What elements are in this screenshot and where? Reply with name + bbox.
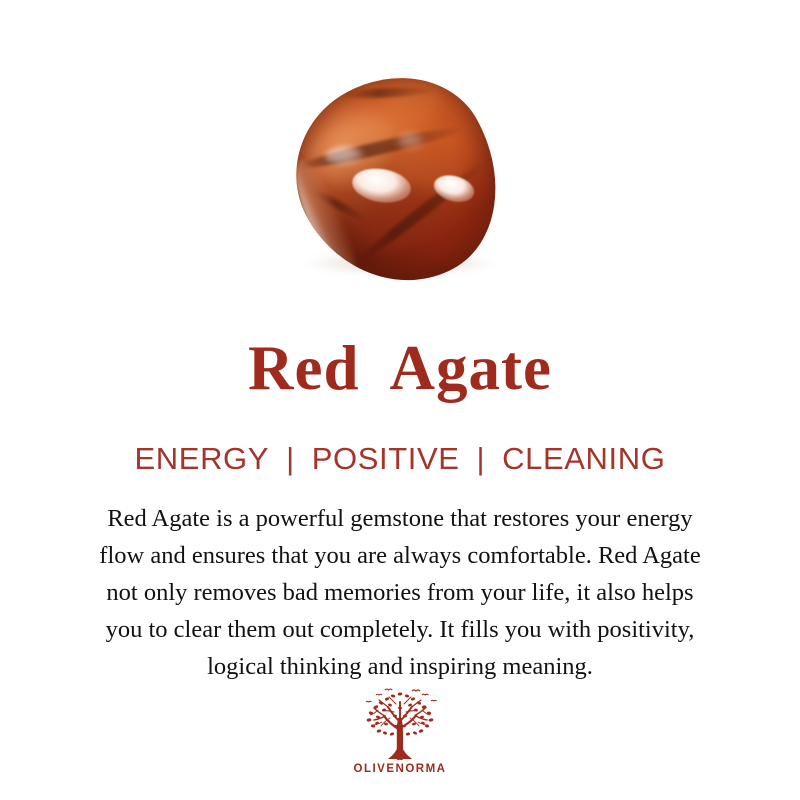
description-line: logical thinking and inspiring meaning. (18, 648, 782, 685)
product-image-area (0, 0, 800, 320)
description-line: not only removes bad memories from your … (18, 574, 782, 611)
keyword-separator: | (286, 440, 295, 478)
description-line: you to clear them out completely. It fil… (18, 611, 782, 648)
keyword-cleaning: CLEANING (502, 440, 665, 478)
product-info-card: Red Agate ENERGY | POSITIVE | CLEANING R… (0, 0, 800, 800)
brand-logo: OLIVENORMA (0, 688, 800, 775)
red-agate-stone-image (287, 72, 513, 292)
keyword-list: ENERGY | POSITIVE | CLEANING (0, 440, 800, 478)
keyword-positive: POSITIVE (312, 440, 460, 478)
description-line: Red Agate is a powerful gemstone that re… (18, 500, 782, 537)
brand-wordmark: OLIVENORMA (354, 763, 447, 775)
keyword-energy: ENERGY (135, 440, 270, 478)
keyword-separator: | (477, 440, 486, 478)
stone-shape (263, 43, 534, 318)
page-title: Red Agate (0, 332, 800, 404)
description-line: flow and ensures that you are always com… (18, 537, 782, 574)
stone-body (263, 43, 534, 318)
product-description: Red Agate is a powerful gemstone that re… (18, 500, 782, 685)
tree-icon (352, 688, 448, 762)
